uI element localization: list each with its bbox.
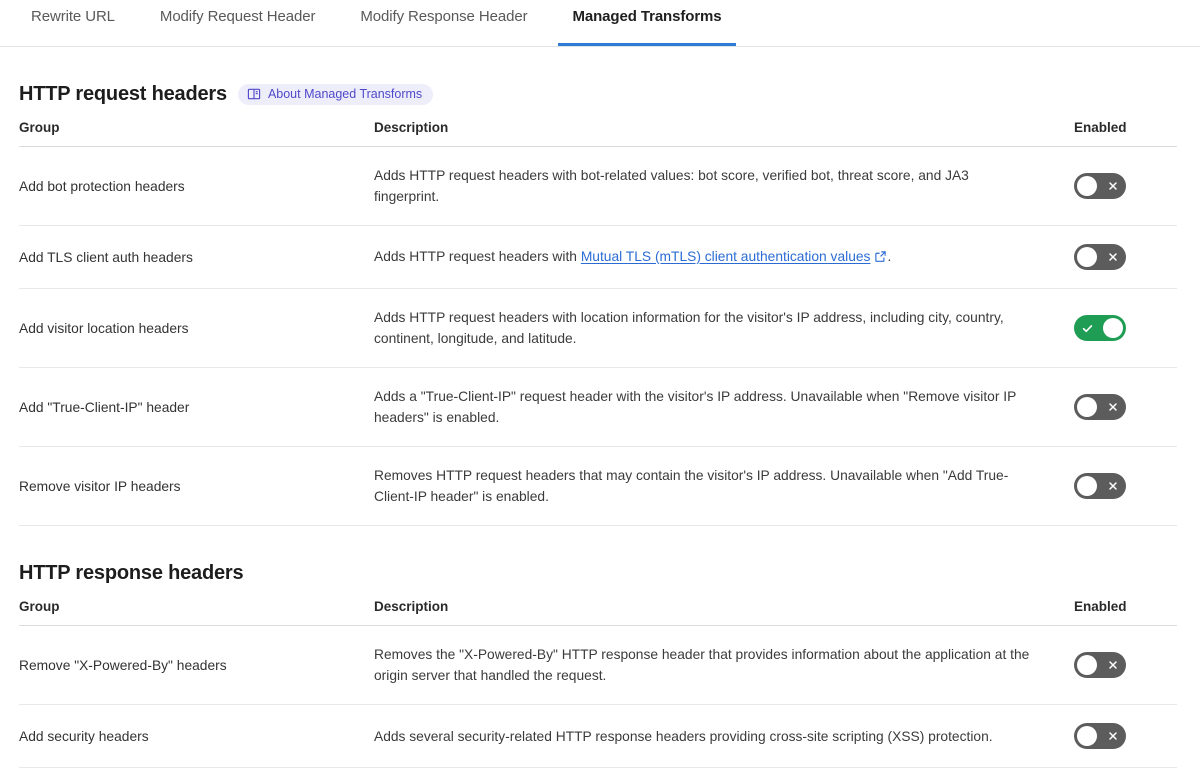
table-row: Add bot protection headersAdds HTTP requ…	[19, 147, 1177, 226]
tab-modify-request-header[interactable]: Modify Request Header	[160, 0, 315, 46]
enabled-toggle[interactable]	[1074, 652, 1126, 678]
enabled-toggle[interactable]	[1074, 723, 1126, 749]
table-row: Add "True-Client-IP" headerAdds a "True-…	[19, 368, 1177, 447]
enabled-toggle[interactable]	[1074, 315, 1126, 341]
row-enabled-cell	[1074, 705, 1177, 768]
table-header-row: GroupDescriptionEnabled	[19, 599, 1177, 626]
row-group-name: Add visitor location headers	[19, 289, 374, 368]
row-group-name: Remove visitor IP headers	[19, 447, 374, 526]
table-row: Remove "X-Powered-By" headersRemoves the…	[19, 626, 1177, 705]
toggle-knob	[1077, 247, 1097, 267]
section-header: HTTP response headers	[19, 562, 1177, 585]
section-1: HTTP response headersGroupDescriptionEna…	[0, 562, 1200, 768]
external-link-icon	[874, 248, 887, 269]
row-group-name: Add security headers	[19, 705, 374, 768]
tab-modify-response-header[interactable]: Modify Response Header	[360, 0, 527, 46]
book-icon	[247, 87, 261, 101]
about-managed-transforms-badge[interactable]: About Managed Transforms	[238, 84, 433, 105]
row-description: Adds a "True-Client-IP" request header w…	[374, 368, 1074, 447]
mtls-documentation-link[interactable]: Mutual TLS (mTLS) client authentication …	[581, 249, 871, 264]
row-group-name: Add "True-Client-IP" header	[19, 368, 374, 447]
row-description: Adds HTTP request headers with bot-relat…	[374, 147, 1074, 226]
section-title: HTTP response headers	[19, 562, 243, 585]
column-header-description: Description	[374, 599, 1074, 626]
toggle-knob	[1077, 726, 1097, 746]
tab-rewrite-url[interactable]: Rewrite URL	[31, 0, 115, 46]
row-group-name: Add bot protection headers	[19, 147, 374, 226]
column-header-group: Group	[19, 599, 374, 626]
table-header-row: GroupDescriptionEnabled	[19, 120, 1177, 147]
row-enabled-cell	[1074, 289, 1177, 368]
enabled-toggle[interactable]	[1074, 394, 1126, 420]
toggle-knob	[1103, 318, 1123, 338]
section-title: HTTP request headers	[19, 83, 227, 106]
toggle-knob	[1077, 176, 1097, 196]
close-icon	[1100, 652, 1126, 678]
close-icon	[1100, 723, 1126, 749]
row-enabled-cell	[1074, 147, 1177, 226]
check-icon	[1074, 315, 1100, 341]
row-enabled-cell	[1074, 226, 1177, 289]
enabled-toggle[interactable]	[1074, 173, 1126, 199]
toggle-knob	[1077, 655, 1097, 675]
toggle-knob	[1077, 397, 1097, 417]
row-group-name: Add TLS client auth headers	[19, 226, 374, 289]
row-enabled-cell	[1074, 368, 1177, 447]
badge-label: About Managed Transforms	[268, 87, 422, 101]
description-text-before: Adds HTTP request headers with	[374, 249, 581, 264]
tab-managed-transforms[interactable]: Managed Transforms	[572, 0, 721, 46]
row-enabled-cell	[1074, 626, 1177, 705]
enabled-toggle[interactable]	[1074, 473, 1126, 499]
column-header-description: Description	[374, 120, 1074, 147]
managed-transforms-table: GroupDescriptionEnabledAdd bot protectio…	[19, 120, 1177, 526]
close-icon	[1100, 473, 1126, 499]
sections-container: HTTP request headersAbout Managed Transf…	[0, 83, 1200, 768]
toggle-knob	[1077, 476, 1097, 496]
section-header: HTTP request headersAbout Managed Transf…	[19, 83, 1177, 106]
table-row: Add visitor location headersAdds HTTP re…	[19, 289, 1177, 368]
table-row: Add security headersAdds several securit…	[19, 705, 1177, 768]
row-description: Adds HTTP request headers with location …	[374, 289, 1074, 368]
row-description: Adds HTTP request headers with Mutual TL…	[374, 226, 1074, 289]
enabled-toggle[interactable]	[1074, 244, 1126, 270]
table-row: Remove visitor IP headersRemoves HTTP re…	[19, 447, 1177, 526]
close-icon	[1100, 173, 1126, 199]
close-icon	[1100, 244, 1126, 270]
row-enabled-cell	[1074, 447, 1177, 526]
column-header-enabled: Enabled	[1074, 120, 1177, 147]
managed-transforms-table: GroupDescriptionEnabledRemove "X-Powered…	[19, 599, 1177, 768]
column-header-enabled: Enabled	[1074, 599, 1177, 626]
table-row: Add TLS client auth headersAdds HTTP req…	[19, 226, 1177, 289]
close-icon	[1100, 394, 1126, 420]
row-group-name: Remove "X-Powered-By" headers	[19, 626, 374, 705]
section-0: HTTP request headersAbout Managed Transf…	[0, 83, 1200, 526]
row-description: Adds several security-related HTTP respo…	[374, 705, 1074, 768]
row-description: Removes the "X-Powered-By" HTTP response…	[374, 626, 1074, 705]
tab-bar: Rewrite URLModify Request HeaderModify R…	[0, 0, 1200, 47]
column-header-group: Group	[19, 120, 374, 147]
description-text-after: .	[887, 249, 891, 264]
row-description: Removes HTTP request headers that may co…	[374, 447, 1074, 526]
